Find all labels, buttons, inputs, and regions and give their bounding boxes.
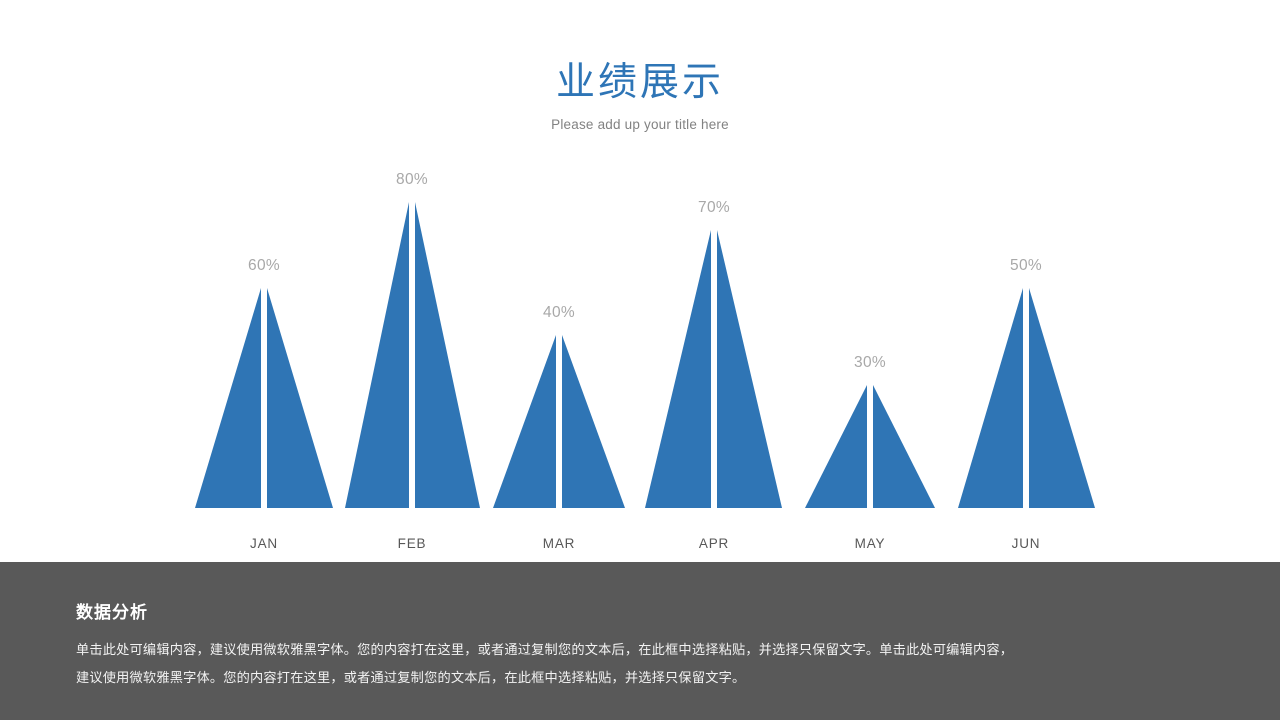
bar-category-label: APR xyxy=(699,536,729,551)
bar-value-label: 80% xyxy=(396,171,428,189)
bar-value-label: 40% xyxy=(543,304,575,322)
bar-right-triangle xyxy=(873,385,935,508)
bar-category-label: FEB xyxy=(398,536,427,551)
bar-left-triangle xyxy=(805,385,867,508)
bar-value-label: 60% xyxy=(248,257,280,275)
bar-left-triangle xyxy=(958,288,1023,508)
bar-category-label: MAY xyxy=(855,536,886,551)
chart-graphics xyxy=(0,0,1280,562)
footer-content: 数据分析 单击此处可编辑内容，建议使用微软雅黑字体。您的内容打在这里，或者通过复… xyxy=(76,602,1208,692)
bar-right-triangle xyxy=(717,230,782,508)
slide-canvas: 业绩展示 Please add up your title here 60%80… xyxy=(0,0,1280,720)
bar-left-triangle xyxy=(195,288,261,508)
bar-category-label: JUN xyxy=(1012,536,1041,551)
bar-value-label: 70% xyxy=(698,199,730,217)
bar-category-label: MAR xyxy=(543,536,575,551)
footer-body-line-1: 单击此处可编辑内容，建议使用微软雅黑字体。您的内容打在这里，或者通过复制您的文本… xyxy=(76,636,1208,664)
footer-band: 数据分析 单击此处可编辑内容，建议使用微软雅黑字体。您的内容打在这里，或者通过复… xyxy=(0,562,1280,720)
footer-body: 单击此处可编辑内容，建议使用微软雅黑字体。您的内容打在这里，或者通过复制您的文本… xyxy=(76,636,1208,692)
footer-body-line-2: 建议使用微软雅黑字体。您的内容打在这里，或者通过复制您的文本后，在此框中选择粘贴… xyxy=(76,664,1208,692)
bar-category-label: JAN xyxy=(250,536,278,551)
bar-value-label: 30% xyxy=(854,354,886,372)
footer-heading: 数据分析 xyxy=(76,602,1208,624)
bar-right-triangle xyxy=(267,288,333,508)
bar-left-triangle xyxy=(645,230,711,508)
bar-left-triangle xyxy=(345,202,409,508)
bar-right-triangle xyxy=(1029,288,1095,508)
bar-left-triangle xyxy=(493,335,556,508)
bar-chart: 60%80%40%70%30%50% JANFEBMARAPRMAYJUN xyxy=(0,0,1280,562)
chart-bars xyxy=(195,202,1095,508)
bar-right-triangle xyxy=(562,335,625,508)
bar-value-label: 50% xyxy=(1010,257,1042,275)
bar-right-triangle xyxy=(415,202,480,508)
